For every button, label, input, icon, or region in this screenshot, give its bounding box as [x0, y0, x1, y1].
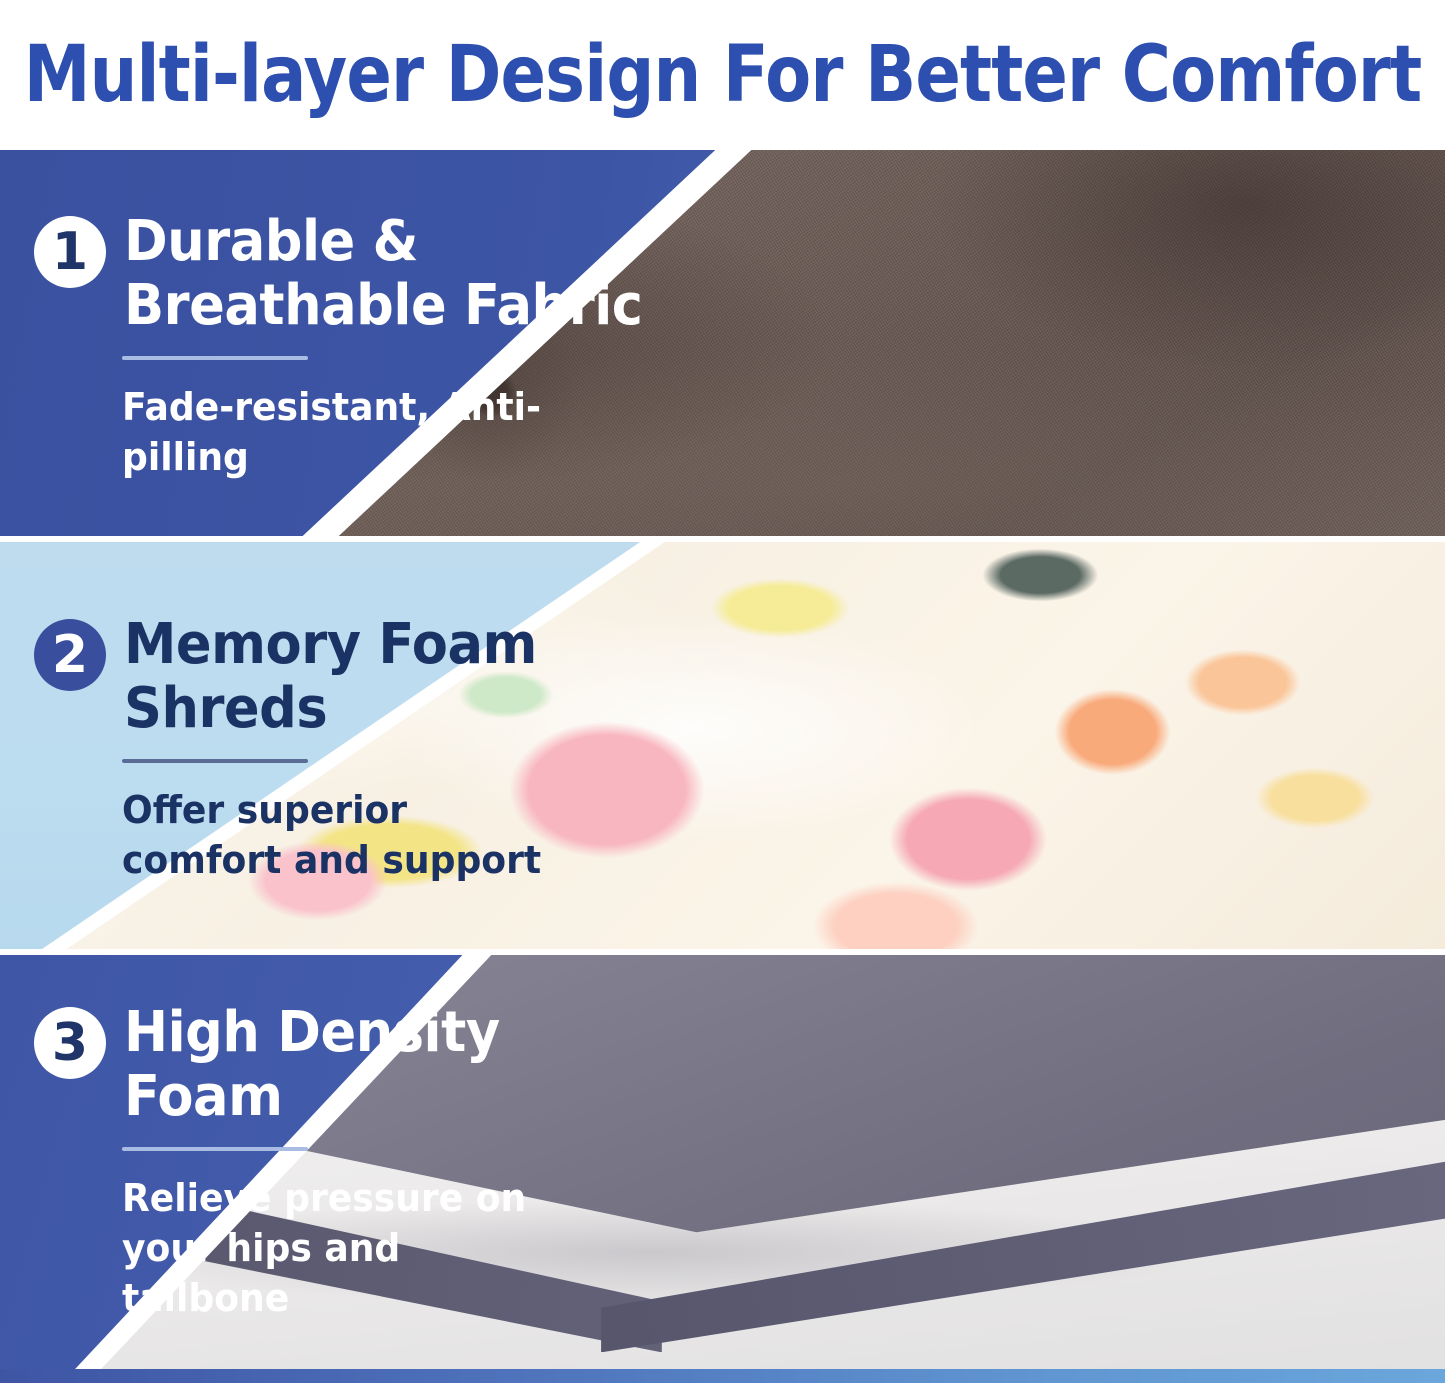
panel-1-heading: Durable & Breathable Fabric [124, 210, 650, 338]
panel-3-subtitle: Relieve pressure on your hips and tailbo… [122, 1173, 569, 1323]
panel-2-content: 2 Memory Foam Shreds Offer superior comf… [0, 542, 700, 955]
feature-panel-2: 2 Memory Foam Shreds Offer superior comf… [0, 542, 1445, 955]
panel-3-heading-row: 3 High Density Foam [34, 1001, 700, 1129]
panel-1-content: 1 Durable & Breathable Fabric Fade-resis… [0, 150, 700, 542]
step-number-badge-2: 2 [34, 619, 106, 691]
page-title: Multi-layer Design For Better Comfort [24, 31, 1422, 119]
panel-3-divider [122, 1147, 308, 1151]
feature-panel-1: 1 Durable & Breathable Fabric Fade-resis… [0, 150, 1445, 542]
panel-3-content: 3 High Density Foam Relieve pressure on … [0, 955, 700, 1369]
panel-1-divider [122, 356, 308, 360]
panel-2-heading: Memory Foam Shreds [124, 613, 650, 741]
footer-accent-strip [0, 1369, 1445, 1383]
panel-1-subtitle: Fade-resistant, Anti-pilling [122, 382, 569, 482]
step-number-badge-3: 3 [34, 1007, 106, 1079]
step-number-badge-1: 1 [34, 216, 106, 288]
panel-1-heading-row: 1 Durable & Breathable Fabric [34, 210, 700, 338]
panel-2-subtitle: Offer superior comfort and support [122, 785, 569, 885]
panel-2-heading-row: 2 Memory Foam Shreds [34, 613, 700, 741]
panel-2-divider [122, 759, 308, 763]
header-bar: Multi-layer Design For Better Comfort [0, 0, 1445, 150]
feature-panel-3: 3 High Density Foam Relieve pressure on … [0, 955, 1445, 1369]
panel-3-heading: High Density Foam [124, 1001, 650, 1129]
infographic-canvas: Multi-layer Design For Better Comfort 1 … [0, 0, 1445, 1383]
